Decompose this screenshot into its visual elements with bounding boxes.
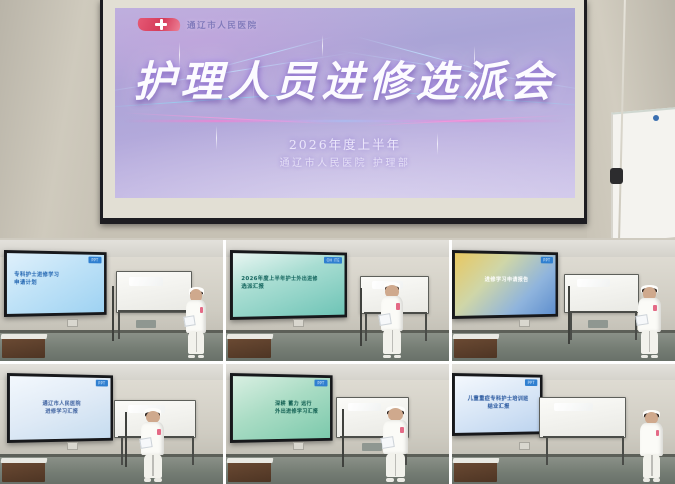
- nurse-trousers: [641, 330, 659, 354]
- nurse-badge: [396, 303, 400, 310]
- presentation-slide: 通辽市人民医院 护理人员进修选派会 2026年度上半年 通辽市人民医院 护理部: [115, 8, 575, 198]
- nurse-uniform: [640, 423, 663, 456]
- wall-left: [0, 0, 100, 238]
- screen-stand: [112, 286, 114, 341]
- wooden-desk: [2, 461, 44, 481]
- projection-screen: PPT 通辽市人民医院 进修学习汇报: [7, 373, 113, 443]
- nurse-presenter: [185, 289, 207, 356]
- nurse-shoe: [641, 355, 648, 358]
- slide-horizon-glow: [115, 120, 575, 122]
- nurse-badge: [656, 430, 660, 436]
- screen-stand: [568, 286, 570, 344]
- projection-screen: PPT 进修学习申请报告: [452, 250, 558, 319]
- slide-tag: PPT: [525, 379, 538, 386]
- whiteboard-frame-bar: [543, 436, 623, 438]
- nurse-shoe: [198, 355, 205, 358]
- nurse-presenter: [380, 285, 405, 357]
- nurse-trousers: [386, 453, 405, 478]
- projected-slide: OH ITE 2026年度上半年护士外出进修 选派汇报: [233, 253, 345, 317]
- projected-slide: PPT 通辽市人民医院 进修学习汇报: [10, 376, 111, 440]
- wall-socket: [67, 319, 78, 327]
- nurse-handout: [378, 313, 392, 325]
- nurse-badge: [200, 307, 204, 313]
- projected-slide-text: 2026年度上半年护士外出进修 选派汇报: [242, 274, 339, 290]
- whiteboard-leg: [425, 312, 427, 341]
- nurse-presenter: [382, 408, 409, 480]
- light-beam: [124, 113, 335, 125]
- nurse-trousers: [643, 454, 661, 477]
- wall-socket: [519, 319, 530, 327]
- nurse-presenter: [637, 287, 662, 357]
- nurse-handout: [380, 436, 395, 449]
- projected-slide-text: 专科护士进修学习 申请计划: [15, 271, 99, 287]
- projection-screen: PPT 专科护士进修学习 申请计划: [4, 250, 106, 317]
- hospital-logo-text: 通辽市人民医院: [187, 19, 258, 31]
- wall-socket: [67, 442, 78, 450]
- whiteboard-leg: [570, 311, 572, 340]
- nurse-trousers: [188, 331, 204, 354]
- photo-collage: 通辽市人民医院 护理人员进修选派会 2026年度上半年 通辽市人民医院 护理部 …: [0, 0, 675, 484]
- slide-tag: PPT: [95, 380, 107, 387]
- whiteboard: [564, 274, 640, 313]
- nurse-shoe: [386, 478, 394, 482]
- slide-tag: PPT: [315, 380, 327, 387]
- projected-slide: PPT 深耕 蓄力 远行 外出进修学习汇报: [233, 376, 330, 440]
- whiteboard: [116, 271, 192, 313]
- grid-photo-6: PPT 儿童重症专科护士培训班 结业汇报: [452, 364, 675, 484]
- slide-title: 护理人员进修选派会: [115, 58, 575, 106]
- whiteboard-leg: [365, 312, 367, 341]
- wooden-desk: [2, 338, 44, 358]
- whiteboard-leg: [121, 436, 123, 465]
- projection-screen: PPT 深耕 蓄力 远行 外出进修学习汇报: [230, 373, 332, 443]
- nurse-handout: [635, 314, 649, 326]
- nurse-shoe: [651, 355, 658, 358]
- wall-socket: [519, 442, 530, 450]
- grid-photo-1: PPT 专科护士进修学习 申请计划: [0, 240, 223, 361]
- wall-clip: [610, 168, 623, 184]
- projection-screen: PPT 儿童重症专科护士培训班 结业汇报: [452, 373, 543, 436]
- projected-slide-text: 深耕 蓄力 远行 外出进修学习汇报: [276, 401, 327, 417]
- nurse-shoe: [154, 478, 161, 481]
- nurse-trousers: [383, 329, 401, 354]
- grid-photo-3: PPT 进修学习申请报告: [452, 240, 675, 361]
- wooden-desk: [228, 461, 270, 481]
- whiteboard-leg: [546, 436, 548, 465]
- grid-photo-4: PPT 通辽市人民医院 进修学习汇报: [0, 364, 223, 484]
- nurse-badge: [157, 429, 161, 435]
- floor-vent: [588, 320, 608, 328]
- grid-photo-5: PPT 深耕 蓄力 远行 外出进修学习汇报: [226, 364, 449, 484]
- projected-slide-text: 通辽市人民医院 进修学习汇报: [16, 400, 104, 416]
- nurse-shoe: [653, 478, 660, 481]
- nurse-shoe: [144, 478, 151, 481]
- wall-socket: [293, 319, 304, 327]
- hero-photo: 通辽市人民医院 护理人员进修选派会 2026年度上半年 通辽市人民医院 护理部: [0, 0, 675, 238]
- grid-photo-2: OH ITE 2026年度上半年护士外出进修 选派汇报: [226, 240, 449, 361]
- slide-subtitle-org: 通辽市人民医院 护理部: [115, 154, 575, 169]
- whiteboard-leg: [192, 436, 194, 465]
- wooden-desk: [454, 338, 496, 358]
- nurse-shoe: [643, 478, 650, 481]
- screen-stand: [360, 288, 362, 346]
- wooden-desk: [228, 338, 270, 358]
- wall-socket: [293, 442, 304, 450]
- projected-slide: PPT 儿童重症专科护士培训班 结业汇报: [455, 376, 540, 433]
- nurse-shoe: [383, 355, 390, 359]
- slide-subtitle-period: 2026年度上半年: [115, 134, 575, 153]
- whiteboard-magnet-icon: [653, 115, 659, 121]
- slide-tag: OH ITE: [324, 256, 342, 263]
- slide-tag: PPT: [541, 256, 553, 263]
- whiteboard-leg: [622, 436, 624, 465]
- hospital-logo: 通辽市人民医院: [137, 16, 258, 33]
- whiteboard-frame-bar: [568, 311, 637, 313]
- screen-stand: [342, 409, 344, 467]
- nurse-trousers: [144, 454, 162, 478]
- wooden-desk: [454, 461, 496, 481]
- floor-vent: [362, 443, 382, 451]
- whiteboard: [539, 397, 626, 438]
- whiteboard-leg: [118, 310, 120, 339]
- hospital-cross-swoosh-logo-icon: [137, 16, 181, 33]
- floor-vent: [136, 320, 156, 328]
- nurse-shoe: [394, 355, 401, 359]
- nurse-presenter: [141, 411, 166, 481]
- projected-slide-text: 进修学习申请报告: [459, 275, 551, 283]
- projection-screen: OH ITE 2026年度上半年护士外出进修 选派汇报: [230, 250, 347, 320]
- whiteboard-frame-bar: [120, 310, 189, 312]
- light-particle: [322, 35, 323, 57]
- photo-grid: PPT 专科护士进修学习 申请计划: [0, 240, 675, 484]
- projected-slide: PPT 专科护士进修学习 申请计划: [7, 253, 104, 314]
- projected-slide: PPT 进修学习申请报告: [455, 253, 556, 316]
- nurse-presenter: [639, 412, 664, 481]
- projected-slide-text: 儿童重症专科护士培训班 结业汇报: [458, 395, 538, 411]
- slide-tag: PPT: [89, 256, 101, 263]
- screen-stand: [125, 412, 127, 467]
- nurse-shoe: [397, 478, 405, 482]
- nurse-badge: [653, 305, 657, 311]
- nurse-shoe: [188, 355, 195, 358]
- nurse-badge: [400, 427, 404, 434]
